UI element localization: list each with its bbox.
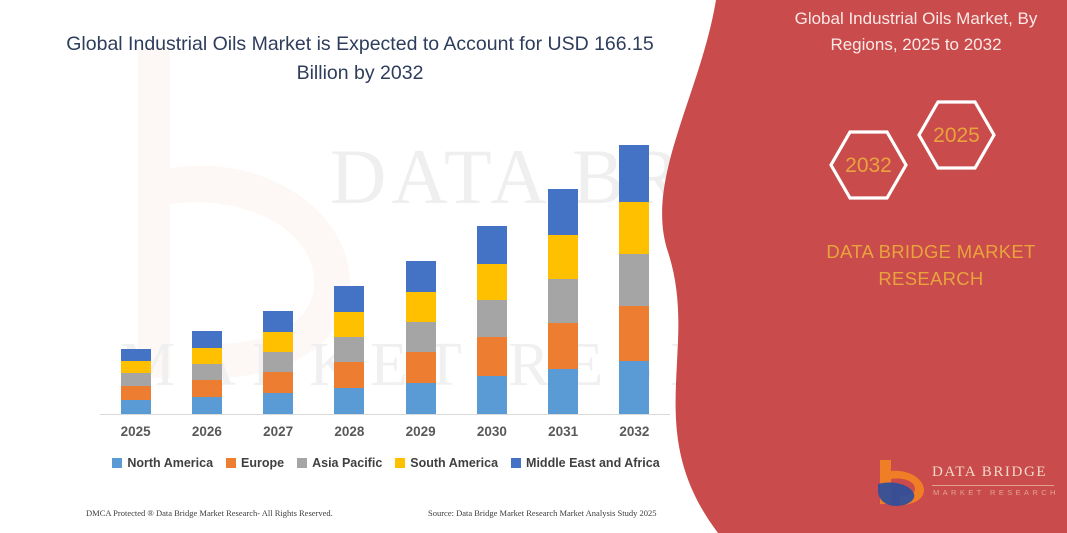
footer-copyright: DMCA Protected ® Data Bridge Market Rese… bbox=[86, 508, 333, 518]
bar-stack bbox=[121, 349, 151, 414]
x-axis-label: 2031 bbox=[528, 424, 599, 439]
chart-legend: North America Europe Asia Pacific South … bbox=[96, 456, 676, 470]
bar-segment-south-america[interactable] bbox=[406, 292, 436, 322]
chart-region: Global Industrial Oils Market is Expecte… bbox=[0, 0, 720, 533]
legend-label: Middle East and Africa bbox=[526, 456, 660, 470]
bar-segment-middle-east-and-africa[interactable] bbox=[477, 226, 507, 264]
legend-item-asia-pacific[interactable]: Asia Pacific bbox=[297, 456, 382, 470]
x-axis-label: 2026 bbox=[171, 424, 242, 439]
bar-segment-middle-east-and-africa[interactable] bbox=[192, 331, 222, 348]
chart-plot-area bbox=[100, 120, 670, 415]
panel-title: Global Industrial Oils Market, By Region… bbox=[772, 6, 1060, 58]
bar-stack bbox=[334, 286, 364, 414]
legend-item-south-america[interactable]: South America bbox=[395, 456, 498, 470]
bar-segment-south-america[interactable] bbox=[477, 264, 507, 300]
hexagon-year-badges: 2025 2032 bbox=[820, 92, 1020, 207]
bar-segment-south-america[interactable] bbox=[263, 332, 293, 352]
bar-segment-north-america[interactable] bbox=[406, 383, 436, 414]
bar-segment-north-america[interactable] bbox=[263, 393, 293, 414]
bar-segment-middle-east-and-africa[interactable] bbox=[263, 311, 293, 332]
legend-swatch-icon bbox=[511, 458, 521, 468]
bar-segment-middle-east-and-africa[interactable] bbox=[121, 349, 151, 361]
bar-segment-south-america[interactable] bbox=[619, 202, 649, 254]
bar-segment-north-america[interactable] bbox=[548, 369, 578, 414]
x-axis-label: 2030 bbox=[456, 424, 527, 439]
bar-segment-europe[interactable] bbox=[263, 372, 293, 393]
legend-label: North America bbox=[127, 456, 213, 470]
x-axis-line bbox=[100, 414, 670, 415]
page-title: Global Industrial Oils Market is Expecte… bbox=[60, 30, 660, 88]
bar-segment-north-america[interactable] bbox=[334, 388, 364, 414]
bar-column-2027[interactable] bbox=[243, 120, 314, 414]
hexagon-2032-label: 2032 bbox=[845, 154, 892, 177]
bar-segment-asia-pacific[interactable] bbox=[263, 352, 293, 372]
brand-name: DATA BRIDGE MARKET RESEARCH bbox=[800, 238, 1062, 292]
x-axis-label: 2025 bbox=[100, 424, 171, 439]
bar-segment-europe[interactable] bbox=[619, 306, 649, 361]
bar-column-2025[interactable] bbox=[100, 120, 171, 414]
logo-title: DATA BRIDGE bbox=[932, 464, 1047, 481]
footer-source: Source: Data Bridge Market Research Mark… bbox=[428, 508, 657, 518]
logo-divider bbox=[932, 485, 1054, 486]
bar-stack bbox=[263, 311, 293, 414]
bar-segment-asia-pacific[interactable] bbox=[406, 322, 436, 352]
bar-segment-north-america[interactable] bbox=[192, 397, 222, 414]
bar-column-2026[interactable] bbox=[171, 120, 242, 414]
hexagon-2025-label: 2025 bbox=[933, 124, 980, 147]
bar-stack bbox=[548, 189, 578, 414]
bar-stack bbox=[406, 261, 436, 414]
infographic-root: DATA BRIDGE MARKET RESEARCH Global Indus… bbox=[0, 0, 1067, 533]
x-axis-label: 2027 bbox=[243, 424, 314, 439]
legend-item-north-america[interactable]: North America bbox=[112, 456, 213, 470]
bar-segment-asia-pacific[interactable] bbox=[192, 364, 222, 380]
bar-segment-europe[interactable] bbox=[334, 362, 364, 388]
legend-item-europe[interactable]: Europe bbox=[226, 456, 284, 470]
legend-swatch-icon bbox=[112, 458, 122, 468]
x-axis-labels: 2025 2026 2027 2028 2029 2030 2031 2032 bbox=[100, 424, 670, 439]
bar-segment-europe[interactable] bbox=[477, 337, 507, 376]
logo-subtitle: MARKET RESEARCH bbox=[933, 488, 1059, 497]
bar-segment-europe[interactable] bbox=[548, 323, 578, 369]
bar-stack bbox=[192, 331, 222, 414]
x-axis-label: 2032 bbox=[599, 424, 670, 439]
bar-segment-middle-east-and-africa[interactable] bbox=[334, 286, 364, 312]
bar-segment-europe[interactable] bbox=[121, 386, 151, 400]
bar-segment-south-america[interactable] bbox=[192, 348, 222, 364]
legend-label: Asia Pacific bbox=[312, 456, 382, 470]
bridge-logo-icon bbox=[876, 458, 928, 508]
bar-segment-asia-pacific[interactable] bbox=[619, 254, 649, 306]
bar-column-2030[interactable] bbox=[456, 120, 527, 414]
bar-column-2028[interactable] bbox=[314, 120, 385, 414]
bar-segment-europe[interactable] bbox=[406, 352, 436, 383]
legend-label: South America bbox=[410, 456, 498, 470]
bar-segment-middle-east-and-africa[interactable] bbox=[619, 145, 649, 202]
bar-stack bbox=[619, 145, 649, 414]
bar-segment-north-america[interactable] bbox=[619, 361, 649, 414]
data-bridge-logo[interactable]: DATA BRIDGE MARKET RESEARCH bbox=[876, 458, 1056, 512]
legend-swatch-icon bbox=[395, 458, 405, 468]
bar-column-2031[interactable] bbox=[528, 120, 599, 414]
legend-label: Europe bbox=[241, 456, 284, 470]
bar-segment-asia-pacific[interactable] bbox=[121, 373, 151, 386]
bar-segment-asia-pacific[interactable] bbox=[477, 300, 507, 337]
bar-segment-north-america[interactable] bbox=[477, 376, 507, 414]
legend-swatch-icon bbox=[297, 458, 307, 468]
bar-column-2032[interactable] bbox=[599, 120, 670, 414]
bar-segment-south-america[interactable] bbox=[548, 235, 578, 279]
x-axis-label: 2028 bbox=[314, 424, 385, 439]
legend-item-middle-east-and-africa[interactable]: Middle East and Africa bbox=[511, 456, 660, 470]
bar-group bbox=[100, 120, 670, 414]
bar-segment-middle-east-and-africa[interactable] bbox=[548, 189, 578, 235]
bar-segment-middle-east-and-africa[interactable] bbox=[406, 261, 436, 292]
bar-segment-europe[interactable] bbox=[192, 380, 222, 397]
bar-segment-asia-pacific[interactable] bbox=[548, 279, 578, 323]
bar-segment-north-america[interactable] bbox=[121, 400, 151, 414]
legend-swatch-icon bbox=[226, 458, 236, 468]
x-axis-label: 2029 bbox=[385, 424, 456, 439]
bar-segment-south-america[interactable] bbox=[121, 361, 151, 373]
bar-column-2029[interactable] bbox=[385, 120, 456, 414]
bar-segment-south-america[interactable] bbox=[334, 312, 364, 337]
bar-segment-asia-pacific[interactable] bbox=[334, 337, 364, 362]
bar-stack bbox=[477, 226, 507, 414]
